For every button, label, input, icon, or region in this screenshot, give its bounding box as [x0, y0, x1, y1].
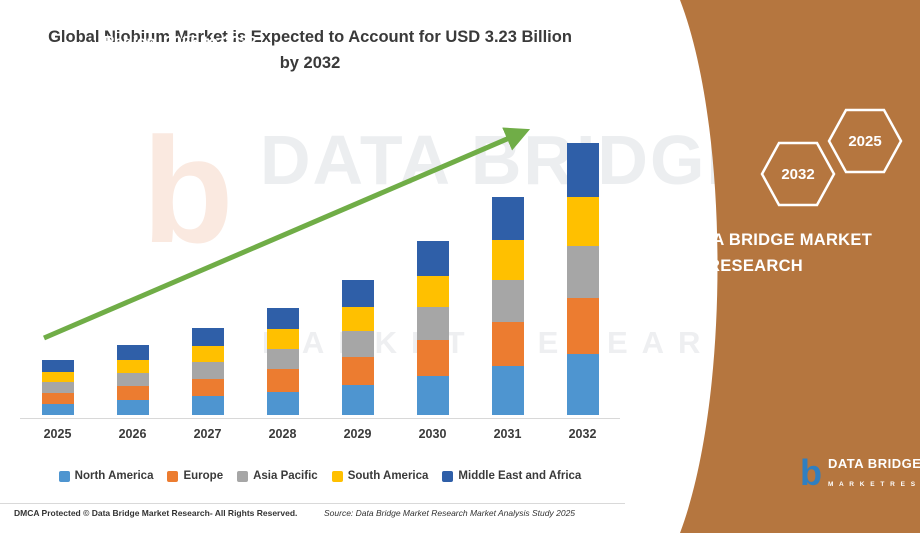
bar-segment [492, 280, 524, 322]
bar-segment [267, 308, 299, 329]
bar-segment [342, 385, 374, 415]
bar-segment [567, 197, 599, 246]
hexagon-2032: 2032 [760, 141, 836, 207]
bar-segment [192, 396, 224, 415]
bar-segment [117, 345, 149, 360]
bar-segment [492, 366, 524, 415]
bar-segment [192, 362, 224, 379]
bar-segment [567, 246, 599, 298]
x-axis-label: 2025 [28, 427, 88, 441]
bar-segment [492, 240, 524, 279]
x-axis: 20252026202720282029203020312032 [20, 418, 620, 449]
bar-segment [567, 298, 599, 354]
bar-segment [417, 307, 449, 341]
legend-label: North America [75, 470, 154, 482]
bar-group [267, 308, 299, 415]
x-axis-label: 2030 [403, 427, 463, 441]
legend-label: South America [348, 470, 429, 482]
bar-segment [492, 197, 524, 240]
bar-segment [117, 386, 149, 400]
bar-segment [567, 143, 599, 197]
legend-item[interactable]: Middle East and Africa [442, 470, 581, 482]
x-axis-label: 2031 [478, 427, 538, 441]
x-axis-label: 2027 [178, 427, 238, 441]
bar-group [492, 197, 524, 415]
bar-segment [117, 400, 149, 415]
bar-segment [342, 357, 374, 385]
bar-segment [342, 280, 374, 307]
bar-segment [42, 360, 74, 372]
bar-segment [42, 372, 74, 382]
legend-swatch-icon [167, 471, 178, 482]
bar-segment [417, 376, 449, 415]
x-axis-label: 2029 [328, 427, 388, 441]
brand-name: DATA BRIDGE MARKET RESEARCH [680, 228, 920, 279]
legend-swatch-icon [332, 471, 343, 482]
bar-segment [267, 329, 299, 349]
stacked-bar-chart [20, 110, 620, 420]
bar-group [342, 280, 374, 415]
corner-logo-title: DATA BRIDGE [828, 456, 920, 471]
footer-source: Source: Data Bridge Market Research Mark… [324, 508, 575, 518]
bar-segment [192, 328, 224, 346]
bar-segment [417, 276, 449, 307]
bar-segment [267, 369, 299, 391]
bar-segment [42, 382, 74, 392]
hexagon-2025: 2025 [827, 108, 903, 174]
bar-segment [117, 373, 149, 386]
legend-swatch-icon [237, 471, 248, 482]
panel-title: Global Niobium Market, By Region, 2025 t… [60, 8, 300, 55]
corner-logo-subtitle: M A R K E T R E S E A R C H [828, 481, 920, 488]
legend-label: Europe [183, 470, 223, 482]
bar-segment [417, 340, 449, 376]
bar-segment [492, 322, 524, 367]
legend-swatch-icon [59, 471, 70, 482]
legend-item[interactable]: North America [59, 470, 154, 482]
legend-item[interactable]: Europe [167, 470, 223, 482]
legend-label: Middle East and Africa [458, 470, 581, 482]
bar-group [192, 328, 224, 415]
bar-group [117, 345, 149, 415]
bar-segment [342, 307, 374, 331]
chart-plot-area [20, 110, 620, 415]
hexagon-2025-label: 2025 [848, 133, 881, 150]
legend-swatch-icon [442, 471, 453, 482]
bar-segment [267, 392, 299, 415]
bar-segment [192, 346, 224, 362]
legend-label: Asia Pacific [253, 470, 318, 482]
brand-name-line2: RESEARCH [680, 254, 920, 280]
x-axis-label: 2032 [553, 427, 613, 441]
bar-segment [342, 331, 374, 357]
bar-segment [42, 393, 74, 404]
corner-logo-mark: b [800, 455, 822, 491]
bar-segment [42, 404, 74, 415]
bar-segment [567, 354, 599, 415]
x-axis-label: 2028 [253, 427, 313, 441]
footer-divider [0, 503, 625, 504]
bar-group [42, 360, 74, 415]
legend-item[interactable]: Asia Pacific [237, 470, 318, 482]
hexagon-2032-label: 2032 [781, 166, 814, 183]
chart-legend: North AmericaEuropeAsia PacificSouth Ame… [20, 470, 620, 482]
bar-segment [117, 360, 149, 373]
bar-segment [267, 349, 299, 370]
x-axis-label: 2026 [103, 427, 163, 441]
infographic-page: b DATA BRIDGE MARKET RESEARCH Global Nio… [0, 0, 920, 533]
footer-dmca: DMCA Protected © Data Bridge Market Rese… [14, 508, 297, 518]
corner-logo: b DATA BRIDGE M A R K E T R E S E A R C … [800, 455, 920, 491]
legend-item[interactable]: South America [332, 470, 429, 482]
bar-segment [417, 241, 449, 276]
bar-group [417, 241, 449, 415]
brand-name-line1: DATA BRIDGE MARKET [680, 228, 920, 254]
bar-segment [192, 379, 224, 397]
bar-group [567, 143, 599, 415]
